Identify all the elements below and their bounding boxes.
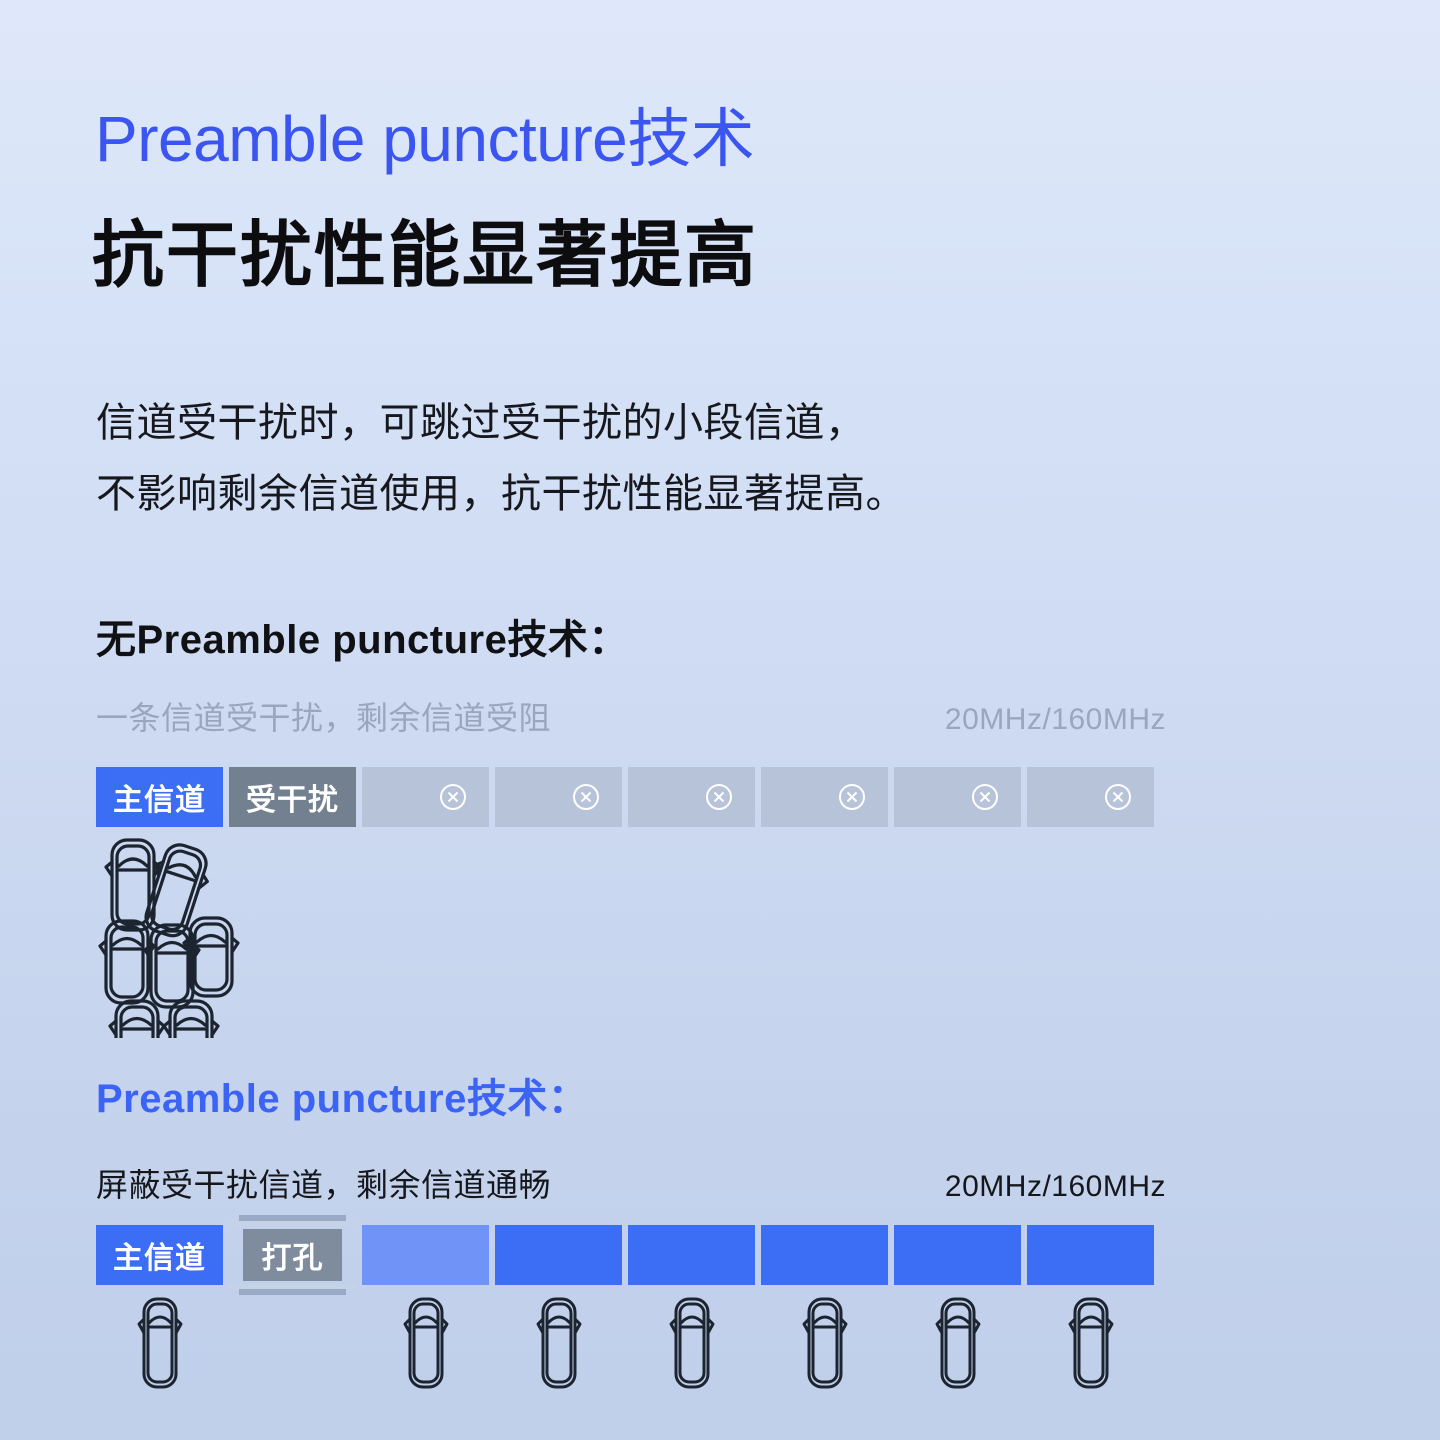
traffic-jam-cars-icon — [98, 838, 248, 1038]
channel-cell-open[interactable] — [761, 1225, 888, 1285]
car-icon — [761, 1297, 888, 1393]
section-lead-without-puncture: 一条信道受干扰，剩余信道受阻 — [96, 693, 551, 739]
poster-root: Preamble puncture技术 抗干扰性能显著提高 信道受干扰时，可跳过… — [0, 0, 1440, 1440]
section-subrow-without-puncture: 一条信道受干扰，剩余信道受阻 20MHz/160MHz — [96, 693, 1166, 739]
circle-x-icon — [572, 783, 600, 811]
puncture-barrier-icon: 打孔 — [229, 1215, 356, 1295]
car-icon — [96, 1297, 223, 1393]
barrier-stripe — [229, 1221, 356, 1226]
circle-x-icon — [439, 783, 467, 811]
channel-bar-with-puncture: 主信道 打孔 — [96, 1225, 1154, 1285]
channel-cell-label: 主信道 — [113, 775, 206, 819]
barrier-stripe — [239, 1289, 346, 1295]
channel-cell-label: 主信道 — [113, 1233, 206, 1277]
channel-cell-blocked[interactable] — [495, 767, 622, 827]
bandwidth-label-with-puncture: 20MHz/160MHz — [945, 1170, 1166, 1204]
channel-cell-blocked[interactable] — [1027, 767, 1154, 827]
circle-x-icon — [838, 783, 866, 811]
channel-cell-label: 打孔 — [243, 1229, 342, 1281]
description-line-1: 信道受干扰时，可跳过受干扰的小段信道， — [96, 388, 906, 459]
description-line-2: 不影响剩余信道使用，抗干扰性能显著提高。 — [96, 459, 906, 530]
circle-x-icon — [971, 783, 999, 811]
section-heading-with-puncture: Preamble puncture技术： — [96, 1066, 588, 1124]
section-lead-with-puncture: 屏蔽受干扰信道，剩余信道通畅 — [96, 1160, 551, 1206]
car-icon — [362, 1297, 489, 1393]
channel-cell-blocked[interactable] — [761, 767, 888, 827]
channel-cell-open[interactable] — [362, 1225, 489, 1285]
flowing-cars-icon — [96, 1297, 1154, 1393]
car-icon — [628, 1297, 755, 1393]
channel-cell-primary[interactable]: 主信道 — [96, 767, 223, 827]
bandwidth-label-without-puncture: 20MHz/160MHz — [945, 703, 1166, 737]
channel-cell-punctured[interactable]: 打孔 — [229, 1225, 356, 1285]
channel-cell-blocked[interactable] — [894, 767, 1021, 827]
channel-cell-jammed[interactable]: 受干扰 — [229, 767, 356, 827]
channel-cell-primary[interactable]: 主信道 — [96, 1225, 223, 1285]
channel-bar-without-puncture: 主信道 受干扰 — [96, 767, 1154, 827]
section-subrow-with-puncture: 屏蔽受干扰信道，剩余信道通畅 20MHz/160MHz — [96, 1160, 1166, 1206]
page-title-chinese: 抗干扰性能显著提高 — [92, 216, 758, 297]
circle-x-icon — [1104, 783, 1132, 811]
car-icon — [495, 1297, 622, 1393]
channel-cell-blocked[interactable] — [362, 767, 489, 827]
channel-cell-open[interactable] — [1027, 1225, 1154, 1285]
channel-cell-blocked[interactable] — [628, 767, 755, 827]
description-paragraph: 信道受干扰时，可跳过受干扰的小段信道， 不影响剩余信道使用，抗干扰性能显著提高。 — [96, 388, 906, 530]
section-heading-without-puncture: 无Preamble puncture技术： — [96, 607, 629, 665]
channel-cell-open[interactable] — [894, 1225, 1021, 1285]
car-icon — [1027, 1297, 1154, 1393]
page-title-english: Preamble puncture技术 — [95, 104, 754, 174]
car-icon — [894, 1297, 1021, 1393]
channel-cell-open[interactable] — [495, 1225, 622, 1285]
channel-cell-label: 受干扰 — [246, 775, 339, 819]
circle-x-icon — [705, 783, 733, 811]
channel-cell-open[interactable] — [628, 1225, 755, 1285]
